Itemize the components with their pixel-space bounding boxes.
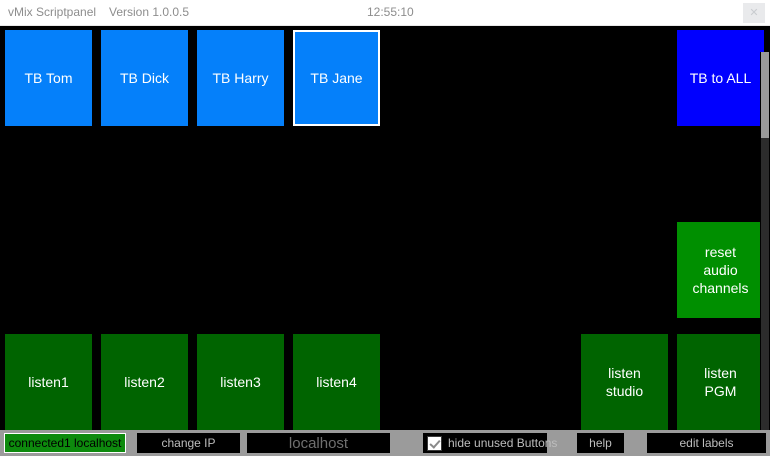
hide-unused-buttons-label: hide unused Buttons	[448, 436, 557, 450]
panel-button-listen3[interactable]: listen3	[197, 334, 284, 430]
connection-status-badge: connected1 localhost	[4, 433, 126, 453]
scrollbar-thumb[interactable]	[761, 52, 769, 138]
panel-button-tb-dick[interactable]: TB Dick	[101, 30, 188, 126]
ip-address-input[interactable]: localhost	[247, 433, 390, 453]
panel-button-tb-tom[interactable]: TB Tom	[5, 30, 92, 126]
clock-display: 12:55:10	[367, 5, 414, 19]
button-panel: TB TomTB DickTB HarryTB JaneTB to ALLres…	[0, 26, 770, 430]
close-icon[interactable]: ✕	[743, 3, 765, 23]
panel-button-tb-harry[interactable]: TB Harry	[197, 30, 284, 126]
panel-button-listen-studio[interactable]: listen studio	[581, 334, 668, 430]
hide-unused-buttons-checkbox[interactable]: hide unused Buttons	[423, 433, 547, 453]
panel-button-tb-jane[interactable]: TB Jane	[293, 30, 380, 126]
panel-button-listen4[interactable]: listen4	[293, 334, 380, 430]
panel-button-reset-audio[interactable]: reset audio channels	[677, 222, 764, 318]
title-bar: vMix Scriptpanel Version 1.0.0.5 12:55:1…	[0, 0, 770, 26]
panel-button-listen2[interactable]: listen2	[101, 334, 188, 430]
panel-button-tb-to-all[interactable]: TB to ALL	[677, 30, 764, 126]
edit-labels-button[interactable]: edit labels	[647, 433, 766, 453]
app-window: vMix Scriptpanel Version 1.0.0.5 12:55:1…	[0, 0, 770, 456]
app-title: vMix Scriptpanel	[8, 5, 96, 19]
panel-button-listen-pgm[interactable]: listen PGM	[677, 334, 764, 430]
panel-button-listen1[interactable]: listen1	[5, 334, 92, 430]
help-button[interactable]: help	[577, 433, 624, 453]
change-ip-button[interactable]: change IP	[137, 433, 240, 453]
status-bar: connected1 localhost change IP localhost…	[0, 430, 770, 456]
vertical-scrollbar[interactable]	[760, 52, 770, 456]
checkbox-checked-icon[interactable]	[427, 436, 442, 451]
app-version: Version 1.0.0.5	[109, 5, 189, 19]
scrollbar-track[interactable]	[761, 138, 769, 456]
